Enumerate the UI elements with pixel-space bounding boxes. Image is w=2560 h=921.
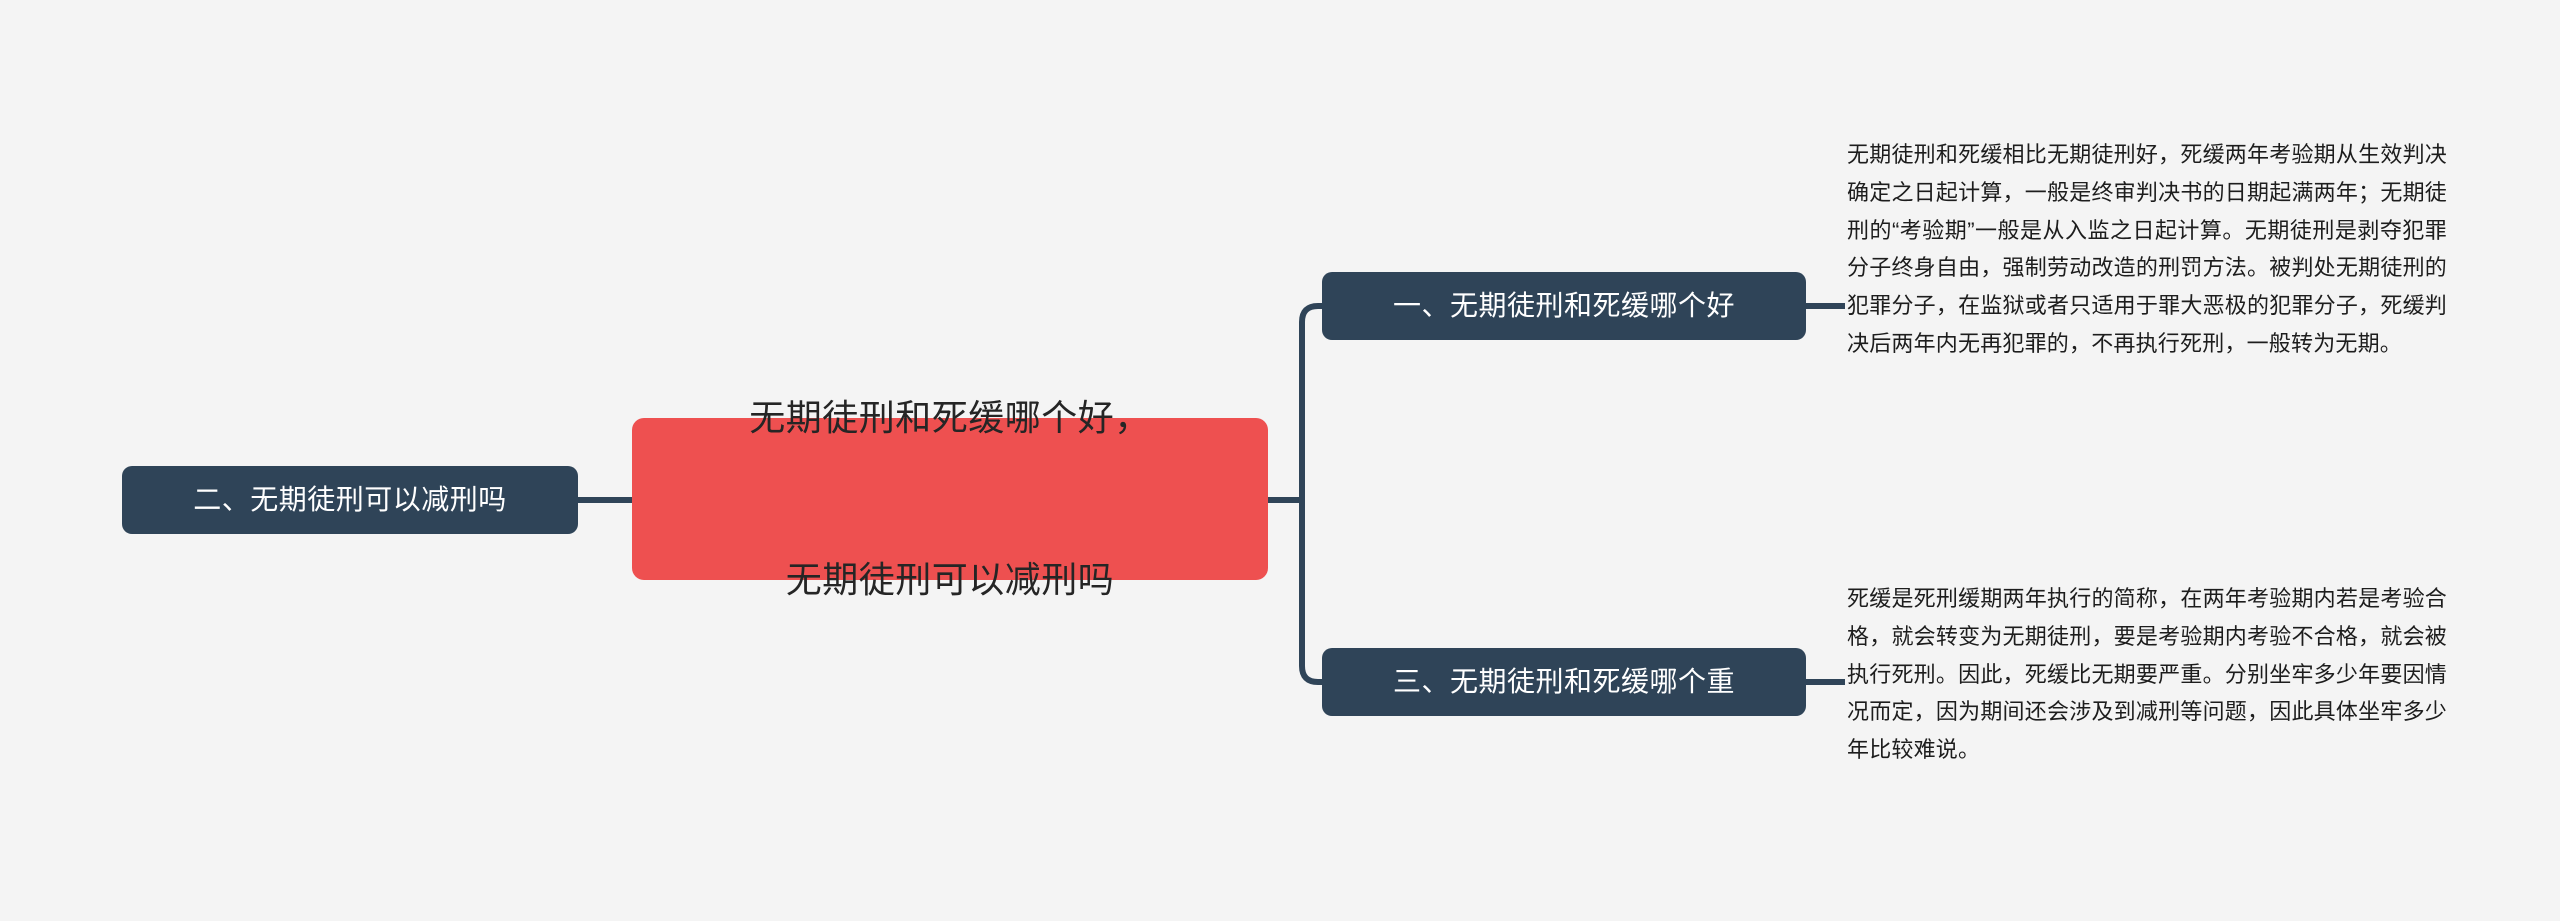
branch-node-left-label: 二、无期徒刑可以减刑吗	[193, 482, 507, 519]
branch-node-top-right-label: 一、无期徒刑和死缓哪个好	[1393, 288, 1735, 325]
mindmap-canvas: 二、无期徒刑可以减刑吗 无期徒刑和死缓哪个好， 无期徒刑可以减刑吗 一、无期徒刑…	[0, 0, 2560, 921]
branch-node-bottom-right-label: 三、无期徒刑和死缓哪个重	[1393, 664, 1735, 701]
root-node-line-1: 无期徒刑和死缓哪个好，	[749, 391, 1151, 445]
branch-node-top-right[interactable]: 一、无期徒刑和死缓哪个好	[1322, 272, 1806, 340]
detail-paragraph-top: 无期徒刑和死缓相比无期徒刑好，死缓两年考验期从生效判决确定之日起计算，一般是终审…	[1847, 136, 2447, 363]
detail-paragraph-bottom: 死缓是死刑缓期两年执行的简称，在两年考验期内若是考验合格，就会转变为无期徒刑，要…	[1847, 580, 2447, 769]
root-node-text: 无期徒刑和死缓哪个好， 无期徒刑可以减刑吗	[749, 283, 1151, 715]
branch-node-bottom-right[interactable]: 三、无期徒刑和死缓哪个重	[1322, 648, 1806, 716]
root-node[interactable]: 无期徒刑和死缓哪个好， 无期徒刑可以减刑吗	[632, 418, 1268, 580]
branch-node-left[interactable]: 二、无期徒刑可以减刑吗	[122, 466, 578, 534]
root-node-line-2: 无期徒刑可以减刑吗	[749, 553, 1151, 607]
